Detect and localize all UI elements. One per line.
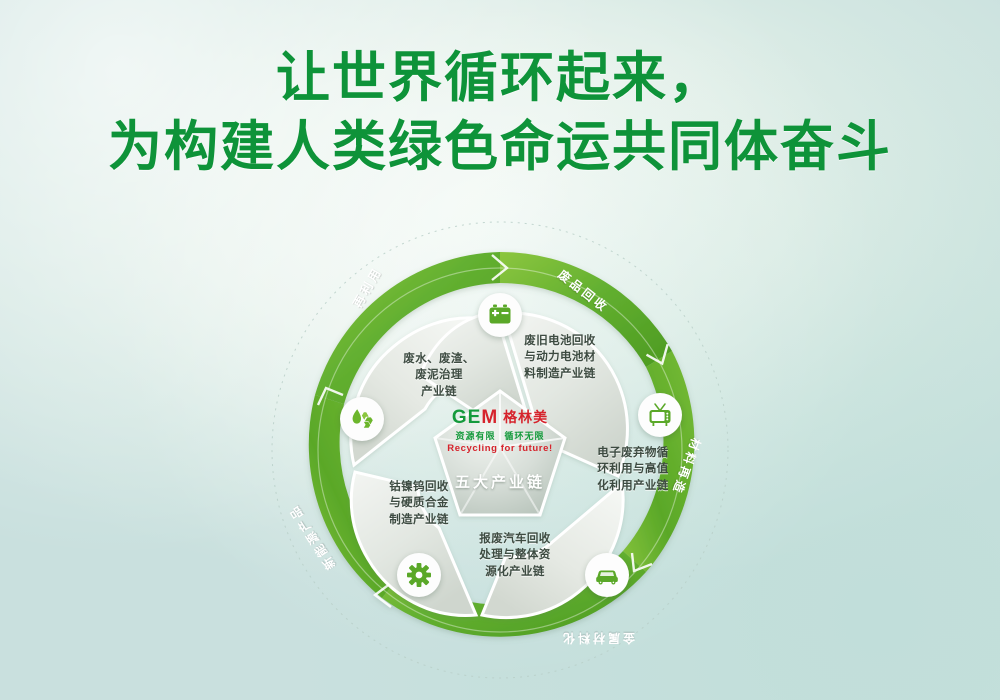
- badge-battery: [478, 293, 522, 337]
- badge-recycle-drop: [340, 397, 384, 441]
- headline-line-1: 让世界循环起来，: [0, 44, 1000, 113]
- headline-line-2: 为构建人类绿色命运共同体奋斗: [0, 113, 1000, 182]
- car-icon: [594, 562, 620, 588]
- five-industry-chain-diagram: 废旧电池回收 与动力电池材 料制造产业链 电子废弃物循 环利用与高值 化利用产业…: [260, 215, 740, 685]
- gear-icon: [406, 562, 432, 588]
- battery-icon: [487, 302, 513, 328]
- badge-car: [585, 553, 629, 597]
- badge-tv: [638, 393, 682, 437]
- badge-gear: [397, 553, 441, 597]
- recycle-drop-icon: [349, 406, 375, 432]
- tv-icon: [647, 402, 673, 428]
- page-title: 让世界循环起来， 为构建人类绿色命运共同体奋斗: [0, 44, 1000, 182]
